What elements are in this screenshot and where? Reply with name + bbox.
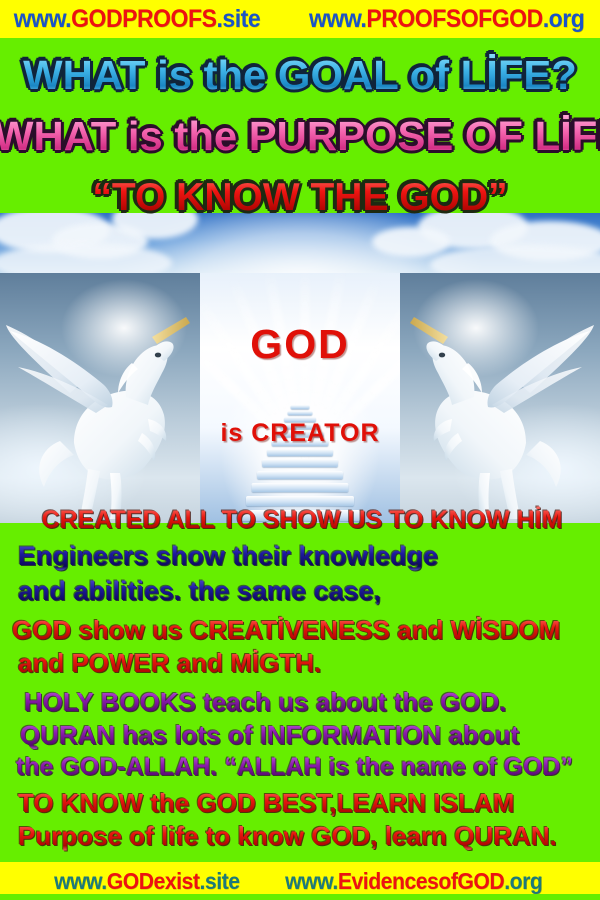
photo-band xyxy=(0,273,600,523)
bottom-green-rule xyxy=(0,894,600,900)
image-stairway-to-heaven xyxy=(200,273,400,523)
body-line-8: the GOD-ALLAH. “ALLAH is the name of GOD… xyxy=(16,753,600,782)
link-evidencesofgod-org[interactable]: www.EvidencesofGOD.org xyxy=(285,868,542,895)
url-prefix: www. xyxy=(54,868,107,894)
body-line-1: CREATED ALL TO SHOW US TO KNOW HİM xyxy=(12,506,592,535)
sky-banner-strip xyxy=(0,213,600,273)
url-name: GODexist xyxy=(107,868,200,894)
image-unicorn-left xyxy=(0,273,200,523)
url-tld: .org xyxy=(543,5,585,33)
url-name: EvidencesofGOD xyxy=(338,868,504,894)
image-unicorn-right xyxy=(400,273,600,523)
top-url-bar: www.GODPROOFS.site www.PROOFSOFGOD.org xyxy=(0,0,600,38)
url-name: GODPROOFS xyxy=(71,5,216,33)
body-line-7: QURAN has lots of INFORMATION about xyxy=(20,720,600,751)
url-prefix: www. xyxy=(14,5,71,33)
unicorn-icon xyxy=(400,273,600,523)
headline-to-know-the-god: “TO KNOW THE GOD” xyxy=(0,176,600,220)
url-tld: .site xyxy=(217,5,261,33)
center-caption-god: GOD xyxy=(0,321,600,368)
body-line-4: GOD show us CREATİVENESS and WİSDOM xyxy=(12,615,600,646)
link-godexist-site[interactable]: www.GODexist.site xyxy=(54,868,239,895)
stairs xyxy=(240,393,360,523)
body-line-5: and POWER and MİGTH. xyxy=(18,648,600,679)
center-caption-is-creator: is CREATOR xyxy=(0,419,600,448)
url-prefix: www. xyxy=(309,5,366,33)
body-line-9: TO KNOW the GOD BEST,LEARN ISLAM xyxy=(18,788,600,819)
body-line-3: and abilities. the same case, xyxy=(18,576,600,607)
poster-root: www.GODPROOFS.site www.PROOFSOFGOD.org W… xyxy=(0,0,600,900)
headline-purpose-of-life: WHAT is the PURPOSE OF LİFE? xyxy=(0,113,600,160)
url-tld: .site xyxy=(200,868,240,894)
link-godproofs-site[interactable]: www.GODPROOFS.site xyxy=(14,5,260,34)
unicorn-icon xyxy=(0,273,200,523)
body-line-2: Engineers show their knowledge xyxy=(18,541,600,572)
body-line-10: Purpose of life to know GOD, learn QURAN… xyxy=(18,821,600,852)
url-name: PROOFSOFGOD xyxy=(367,5,543,33)
body-line-6: HOLY BOOKS teach us about the GOD. xyxy=(24,687,600,718)
url-tld: .org xyxy=(504,868,542,894)
url-prefix: www. xyxy=(285,868,338,894)
heaven-light xyxy=(200,273,400,523)
headline-goal-of-life: WHAT is the GOAL of LİFE? xyxy=(0,52,600,99)
link-proofsofgod-org[interactable]: www.PROOFSOFGOD.org xyxy=(309,5,584,34)
